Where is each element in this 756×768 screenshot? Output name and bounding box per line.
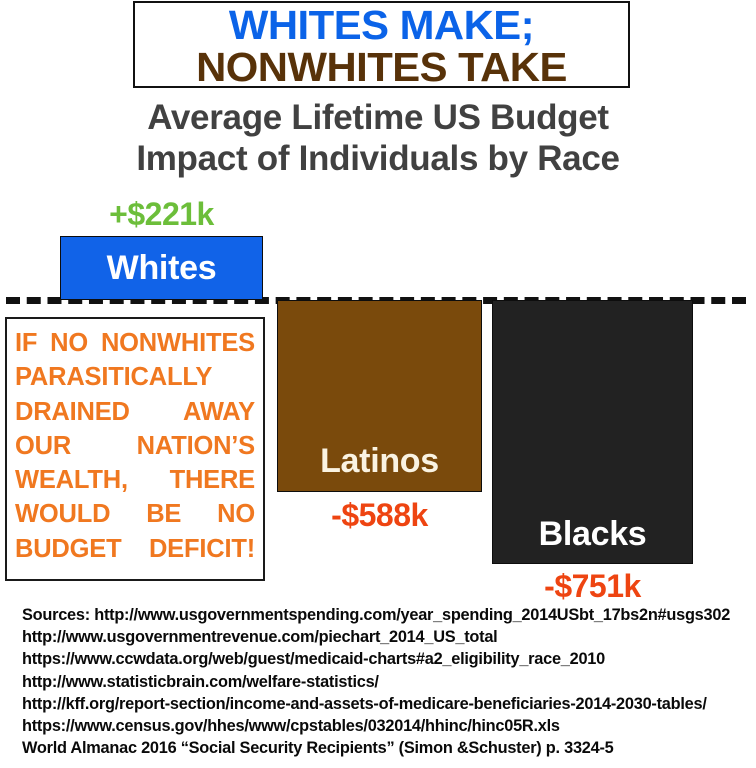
bar-blacks: Blacks xyxy=(492,300,693,564)
source-line: Sources: http://www.usgovernmentspending… xyxy=(22,604,749,626)
source-line: https://www.census.gov/hhes/www/cpstable… xyxy=(22,715,749,737)
source-line: https://www.ccwdata.org/web/guest/medica… xyxy=(22,648,749,670)
source-line: http://www.statisticbrain.com/welfare-st… xyxy=(22,671,749,693)
bar-whites: Whites xyxy=(60,236,263,300)
bar-label-blacks: Blacks xyxy=(539,517,647,551)
source-line: http://kff.org/report-section/income-and… xyxy=(22,693,749,715)
bar-latinos: Latinos xyxy=(277,300,482,492)
source-line: World Almanac 2016 “Social Security Reci… xyxy=(22,737,749,759)
bar-chart: +$221k Whites Latinos -$588k Blacks -$75… xyxy=(0,0,756,600)
bar-label-latinos: Latinos xyxy=(320,444,439,478)
value-label-latinos: -$588k xyxy=(277,499,482,531)
value-label-blacks: -$751k xyxy=(492,570,693,602)
source-line: http://www.usgovernmentrevenue.com/piech… xyxy=(22,626,749,648)
callout-box: IF NO NONWHITES PARASITICALLY DRAINED AW… xyxy=(5,317,265,581)
value-label-whites: +$221k xyxy=(60,198,263,230)
sources-list: Sources: http://www.usgovernmentspending… xyxy=(22,604,756,759)
bar-label-whites: Whites xyxy=(107,251,217,285)
callout-text: IF NO NONWHITES PARASITICALLY DRAINED AW… xyxy=(15,326,255,566)
